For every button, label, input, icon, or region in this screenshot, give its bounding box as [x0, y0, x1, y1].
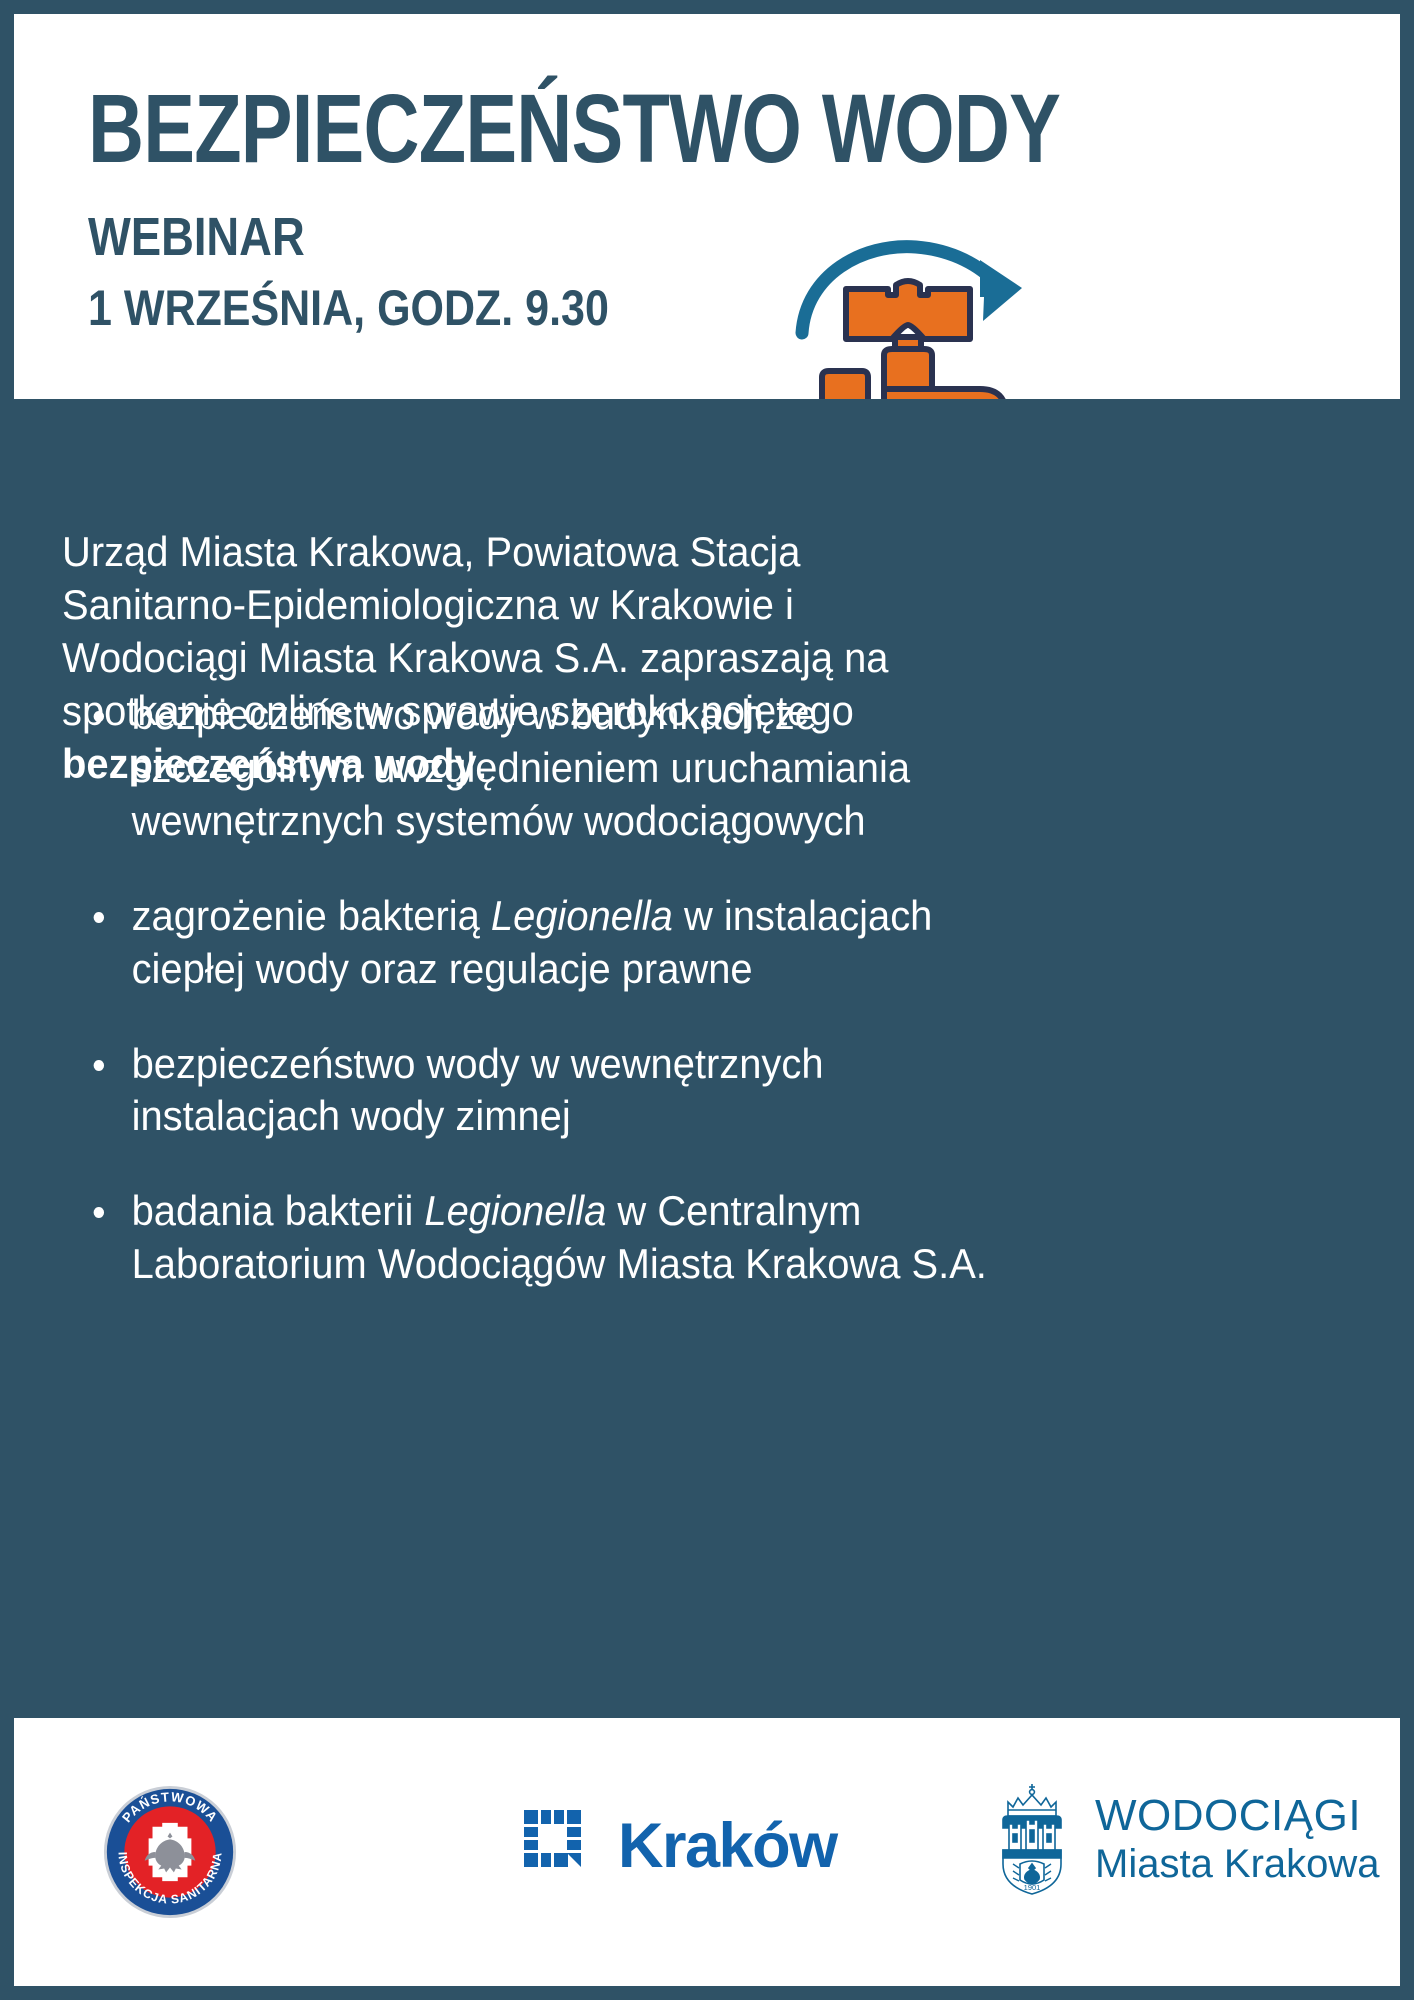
- krakow-logo: Kraków: [524, 1810, 837, 1882]
- wodociagi-line-1: WODOCIĄGI: [1095, 1794, 1380, 1838]
- header-band: BEZPIECZEŃSTWO WODY WEBINAR 1 WRZEŚNIA, …: [14, 14, 1400, 399]
- bullet-text-pre: bezpieczeństwo wody w wewnętrznych insta…: [132, 1040, 824, 1140]
- bullet-dot-icon: [94, 1207, 104, 1218]
- wodociagi-line-2: Miasta Krakowa: [1095, 1844, 1380, 1884]
- body-area: Urząd Miasta Krakowa, Powiatowa Stacja S…: [14, 399, 1400, 1718]
- crest-year: 1901: [1024, 1883, 1041, 1892]
- krakow-crest-icon: 1901: [989, 1780, 1075, 1898]
- bullet-dot-icon: [94, 1060, 104, 1071]
- list-item: bezpieczeństwo wody w wewnętrznych insta…: [86, 1038, 1027, 1144]
- bullet-text-italic: Legionella: [491, 892, 673, 939]
- bullet-text-pre: zagrożenie bakterią: [132, 892, 491, 939]
- bullet-text-italic: Legionella: [424, 1187, 606, 1234]
- list-item: zagrożenie bakterią Legionella w instala…: [86, 890, 1027, 996]
- bullet-dot-icon: [94, 912, 104, 923]
- krakow-mark-icon: [524, 1810, 596, 1882]
- wodociagi-miasta-krakowa-logo: 1901 WODOCIĄGI Miasta Krakowa: [989, 1780, 1380, 1898]
- panstwowa-inspekcja-sanitarna-logo: PAŃSTWOWA INSPEKCJA SANITARNA: [102, 1784, 238, 1920]
- bullet-dot-icon: [94, 711, 104, 722]
- list-item: bezpieczeństwo wody w budynkach ze szcze…: [86, 689, 1027, 848]
- bullet-text-pre: bezpieczeństwo wody w budynkach ze szcze…: [132, 691, 910, 844]
- krakow-wordmark: Kraków: [618, 1815, 837, 1878]
- poster-root: BEZPIECZEŃSTWO WODY WEBINAR 1 WRZEŚNIA, …: [0, 0, 1414, 2000]
- topics-list: bezpieczeństwo wody w budynkach ze szcze…: [86, 689, 1027, 1291]
- faucet-rotate-icon: [784, 229, 1034, 399]
- page-title: BEZPIECZEŃSTWO WODY: [88, 82, 888, 175]
- bullet-text-pre: badania bakterii: [132, 1187, 425, 1234]
- footer-band: PAŃSTWOWA INSPEKCJA SANITARNA: [14, 1718, 1400, 1986]
- list-item: badania bakterii Legionella w Centralnym…: [86, 1185, 1027, 1291]
